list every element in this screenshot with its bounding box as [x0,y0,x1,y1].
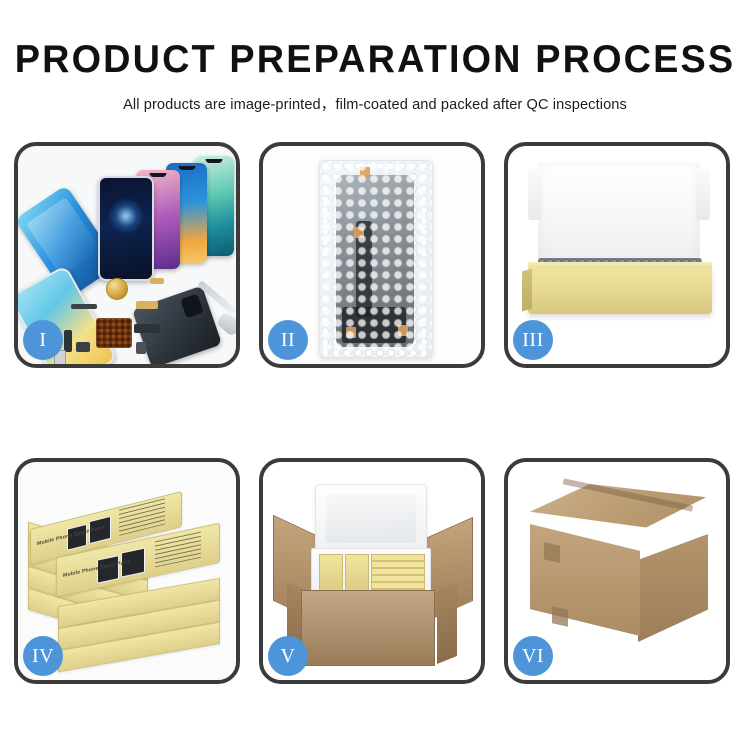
flex-cable-part-a [71,304,97,309]
phone-screen-dark-front-glass [98,176,154,281]
tape-piece-4 [398,325,408,336]
step-panel-3: III [504,142,730,368]
small-component-part-g [150,278,164,284]
small-component-part-f [136,342,146,354]
step-panel-2: II [259,142,485,368]
product-preparation-infographic: PRODUCT PREPARATION PROCESS All products… [0,0,750,750]
step-panel-1: I [14,142,240,368]
page-title: PRODUCT PREPARATION PROCESS [11,40,739,79]
step-badge-4: IV [23,636,63,676]
step-panel-6: VI [504,458,730,684]
step-panel-4: Mobile Phone Spare Parts Mobile Phone Sp… [14,458,240,684]
steps-grid: I II [14,142,736,688]
bubble-wrap-bag [319,160,433,358]
tape-piece-3 [346,327,356,338]
small-component-part-e [76,342,90,352]
step-badge-2: II [268,320,308,360]
tape-piece-1 [360,167,370,178]
vibration-motor-part [106,278,128,300]
box-stack: Mobile Phone Spare Parts Mobile Phone Sp… [24,488,236,664]
yellow-inner-box [528,268,712,314]
tape-piece-2 [354,227,364,238]
connector-grid-part [96,318,132,348]
page-subtitle: All products are image-printed，film-coat… [0,93,750,114]
header: PRODUCT PREPARATION PROCESS All products… [0,0,750,114]
step-panel-5: V [259,458,485,684]
foam-lid-open [315,484,427,552]
carton-tape-patch-top [544,542,560,562]
flex-cable-part-b [136,301,158,309]
step-badge-6: VI [513,636,553,676]
step-badge-3: III [513,320,553,360]
carton-front-face [301,590,435,666]
step-badge-1: I [23,320,63,360]
flex-cable-part-c [134,324,160,333]
step-badge-5: V [268,636,308,676]
carton-wall-right [437,582,457,664]
flex-cable-part-d [64,330,72,352]
sealed-carton-side [638,534,708,642]
sealed-carton-front [530,524,640,636]
carton-tape-patch-bottom [552,606,568,626]
